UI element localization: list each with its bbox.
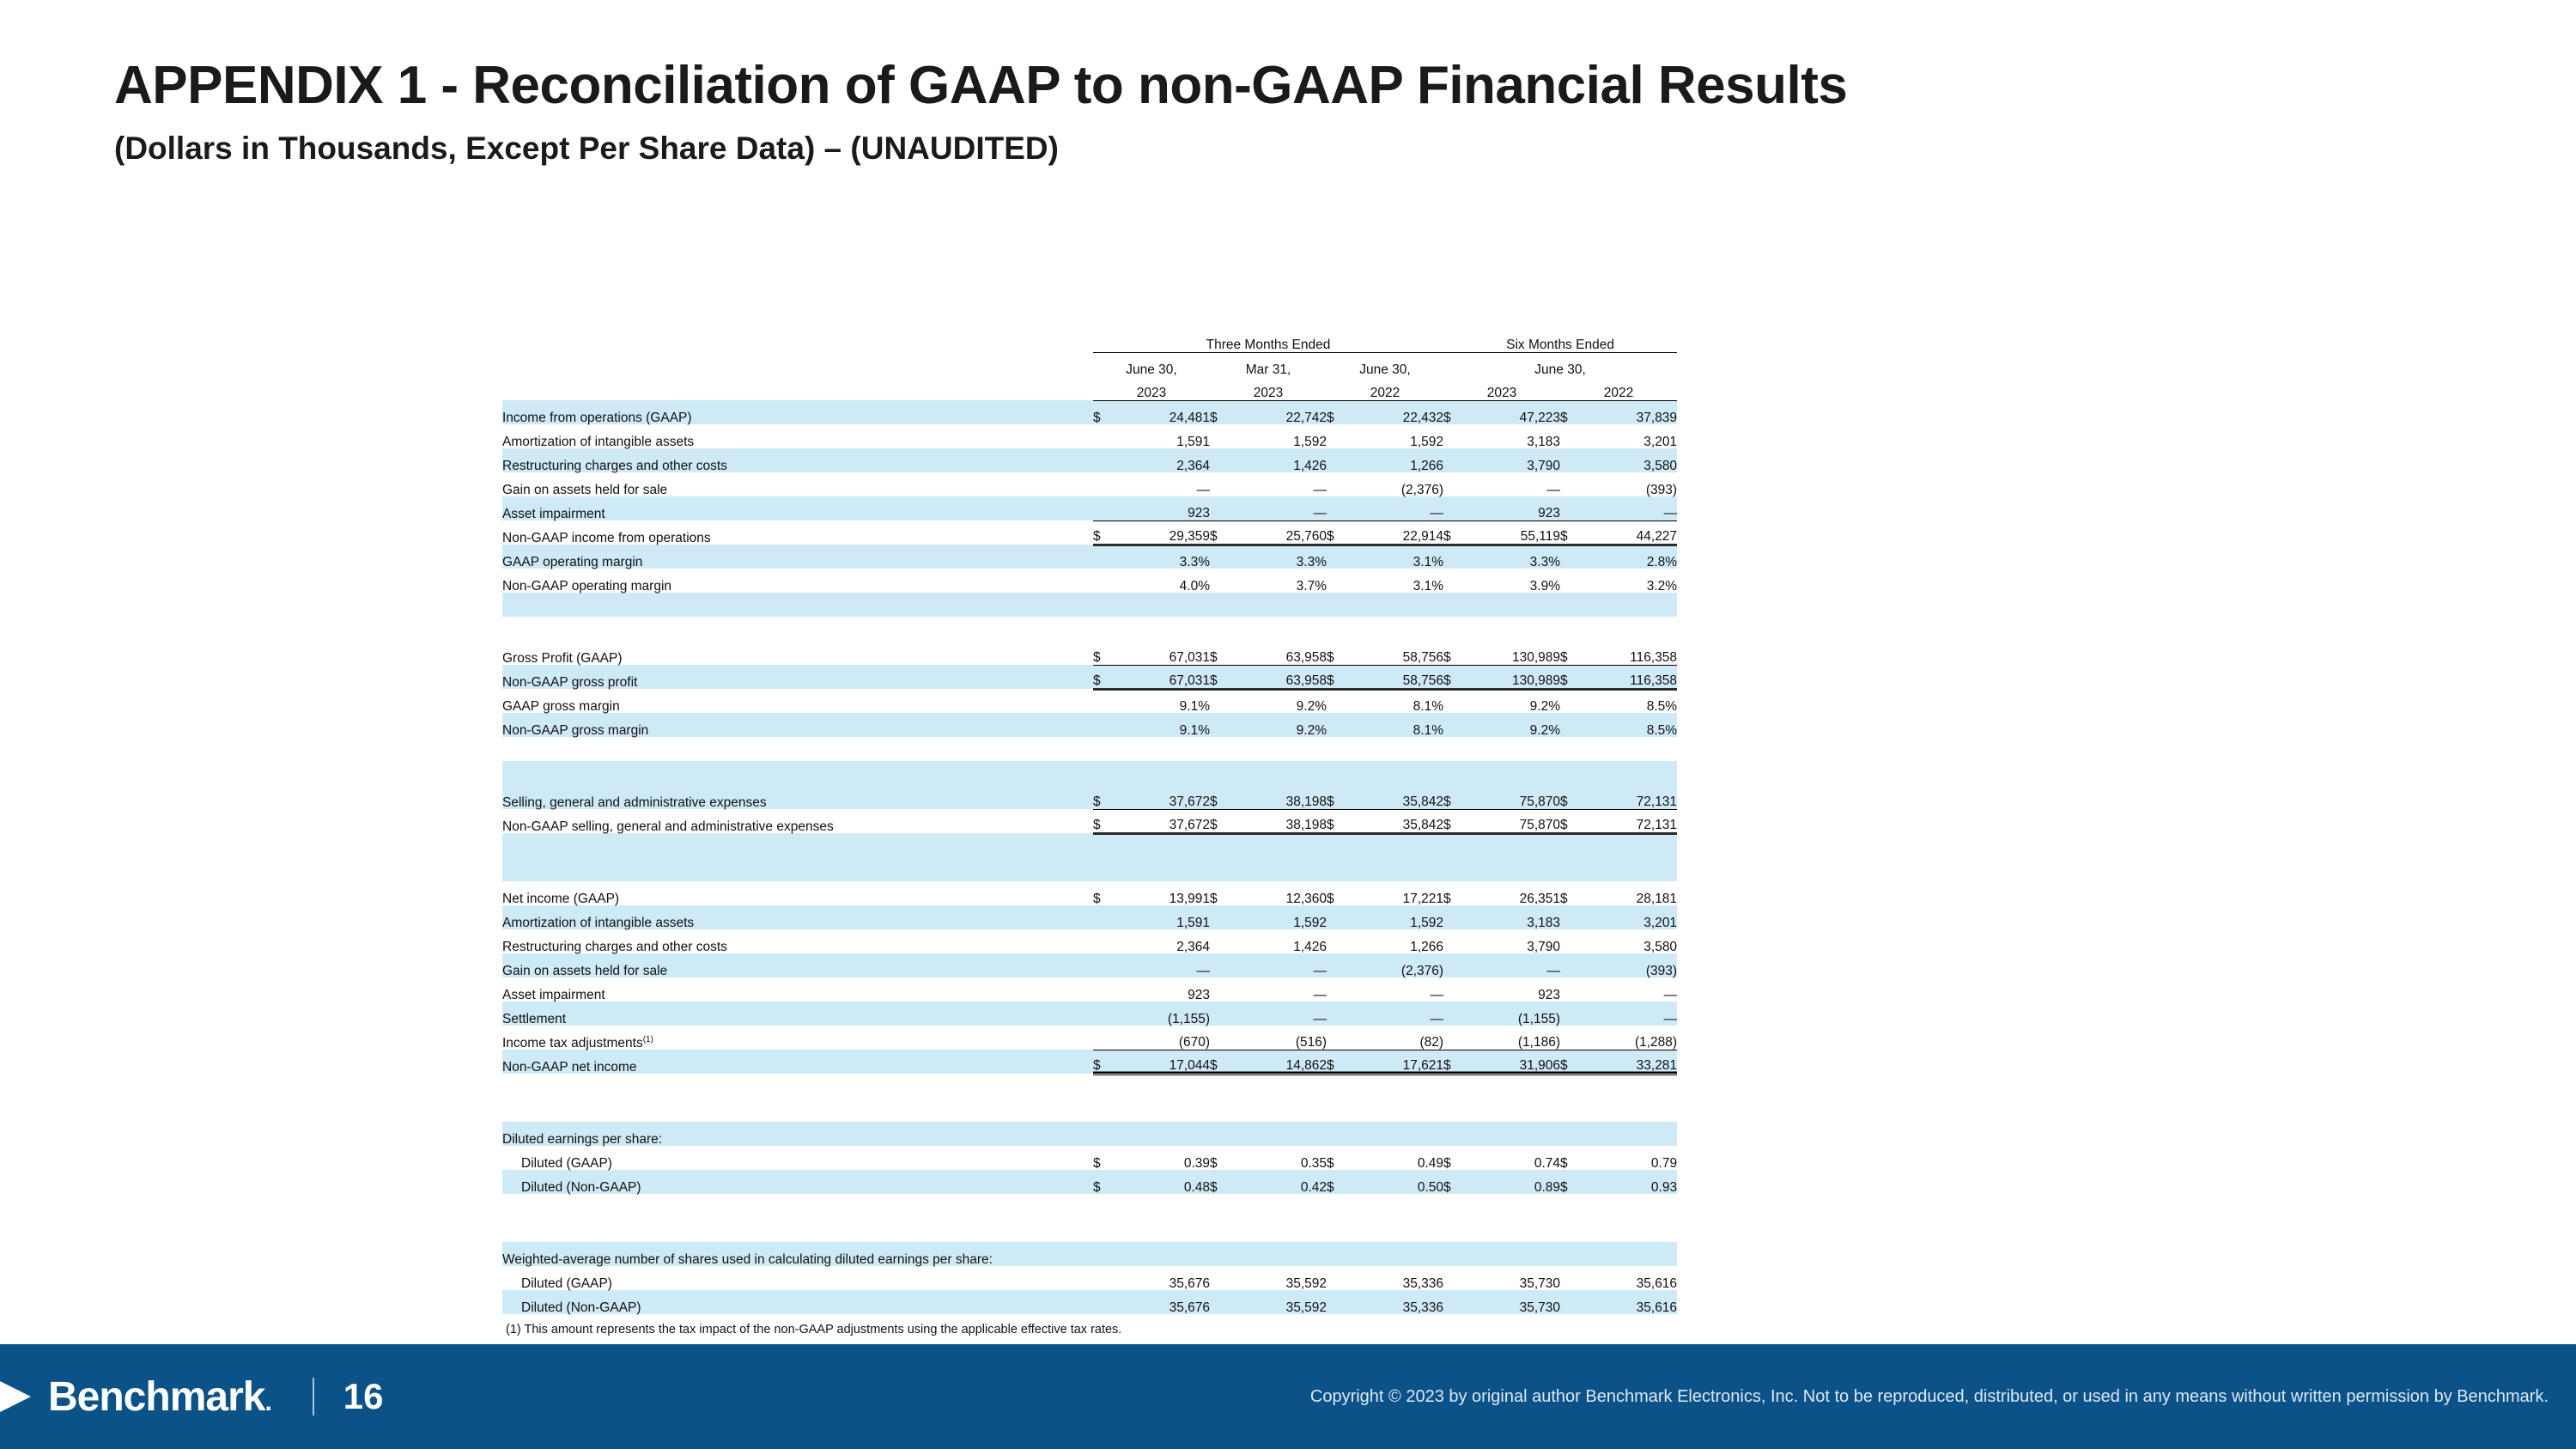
row-label: Non-GAAP income from operations [502,521,1093,545]
currency-symbol-cell [1560,929,1579,953]
currency-symbol-cell [1560,689,1579,713]
table-cell-value: 3,580 [1579,448,1677,472]
table-cell-value [1112,1242,1210,1266]
currency-symbol-cell [1327,1074,1346,1098]
table-cell-value: 22,742 [1229,400,1327,424]
table-cell-value: 1,592 [1229,905,1327,929]
currency-symbol-cell [1560,857,1579,881]
currency-symbol-cell [1560,1026,1579,1050]
currency-symbol-cell: $ [1560,665,1579,689]
table-cell-value: — [1346,1002,1443,1026]
currency-symbol-cell: $ [1210,400,1229,424]
table-spacer-row [502,617,1677,641]
table-cell-value [1112,1074,1210,1098]
table-cell-value [1112,1194,1210,1218]
table-cell-value: — [1579,977,1677,1002]
currency-symbol-cell: $ [1560,1050,1579,1074]
table-cell-value: (1,155) [1112,1002,1210,1026]
table-cell-value: 0.48 [1112,1170,1210,1194]
currency-symbol-cell [1210,569,1229,593]
currency-symbol-cell [1443,1002,1462,1026]
table-cell-value: 35,616 [1579,1266,1677,1290]
table-cell-value: 1,591 [1112,424,1210,448]
currency-symbol-cell [1327,857,1346,881]
group-header-three-months: Three Months Ended [1093,328,1443,352]
currency-symbol-cell: $ [1327,785,1346,809]
table-cell-value: — [1346,977,1443,1002]
table-cell-value: 0.89 [1462,1170,1560,1194]
currency-symbol-cell [1560,1242,1579,1266]
currency-symbol-cell [1443,1218,1462,1242]
currency-symbol-cell [1443,1266,1462,1290]
currency-symbol-cell [1093,1194,1112,1218]
table-cell-value: 9.2% [1229,689,1327,713]
table-cell-value [1462,1074,1560,1098]
currency-symbol-cell [1327,761,1346,785]
table-cell-value [1462,761,1560,785]
table-cell-value [1346,1314,1443,1338]
currency-symbol-cell: $ [1210,785,1229,809]
currency-symbol-cell: $ [1560,1146,1579,1170]
table-cell-value: 35,616 [1579,1290,1677,1314]
table-cell-value [1579,761,1677,785]
row-label: Gain on assets held for sale [502,472,1093,496]
table-row: Selling, general and administrative expe… [502,785,1677,809]
currency-symbol-cell [1210,424,1229,448]
currency-symbol-cell: $ [1443,665,1462,689]
table-cell-value: 12,360 [1229,881,1327,905]
currency-symbol-cell [1560,737,1579,761]
currency-symbol-cell [1560,1122,1579,1146]
year-header-col-1: 2023 [1093,376,1210,400]
currency-symbol-cell [1093,737,1112,761]
row-label: Non-GAAP net income [502,1050,1093,1074]
table-cell-value [1229,833,1327,857]
table-spacer-row [502,1194,1677,1218]
currency-symbol-cell [1327,1002,1346,1026]
currency-symbol-cell [1443,1314,1462,1338]
currency-symbol-cell [1560,472,1579,496]
currency-symbol-cell [1327,1218,1346,1242]
table-cell-value [1229,1122,1327,1146]
table-cell-value: 923 [1462,496,1560,521]
currency-symbol-cell [1560,761,1579,785]
table-cell-value [1462,1122,1560,1146]
currency-symbol-cell [1210,857,1229,881]
table-cell-value: — [1346,496,1443,521]
currency-symbol-cell: $ [1327,809,1346,833]
row-label: Amortization of intangible assets [502,424,1093,448]
currency-symbol-cell [1210,472,1229,496]
currency-symbol-cell [1560,1074,1579,1098]
currency-symbol-cell [1093,905,1112,929]
currency-symbol-cell: $ [1210,809,1229,833]
table-cell-value: 35,336 [1346,1266,1443,1290]
currency-symbol-cell [1443,713,1462,737]
currency-symbol-cell: $ [1560,521,1579,545]
currency-symbol-cell: $ [1093,785,1112,809]
table-cell-value [1229,593,1327,617]
currency-symbol-cell [1443,1242,1462,1266]
table-row: Non-GAAP gross margin9.1%9.2%8.1%9.2%8.5… [502,713,1677,737]
table-cell-value: 3.3% [1229,545,1327,569]
table-row: Asset impairment923——923— [502,496,1677,521]
table-cell-value: 3.3% [1462,545,1560,569]
table-cell-value [1346,1122,1443,1146]
currency-symbol-cell: $ [1443,1050,1462,1074]
row-label: Diluted (Non-GAAP) [502,1290,1093,1314]
row-label [502,1194,1093,1218]
currency-symbol-cell [1443,569,1462,593]
table-cell-value: 33,281 [1579,1050,1677,1074]
brand-name-dot: . [264,1388,270,1416]
table-cell-value: 31,906 [1462,1050,1560,1074]
currency-symbol-cell: $ [1443,1146,1462,1170]
table-row: Gain on assets held for sale——(2,376)—(3… [502,953,1677,977]
table-body: Income from operations (GAAP)$24,481$22,… [502,400,1677,1434]
financial-reconciliation-table: Three Months Ended Six Months Ended June… [502,328,1677,1436]
currency-symbol-cell [1210,593,1229,617]
table-cell-value: — [1462,953,1560,977]
table-cell-value [1579,1218,1677,1242]
table-cell-value: 116,358 [1579,665,1677,689]
row-label: Income from operations (GAAP) [502,400,1093,424]
table-cell-value: 17,221 [1346,881,1443,905]
table-cell-value: 63,958 [1229,665,1327,689]
currency-symbol-cell [1443,617,1462,641]
currency-symbol-cell [1327,496,1346,521]
currency-symbol-cell [1560,593,1579,617]
table-cell-value: 3.7% [1229,569,1327,593]
fin-table: Three Months Ended Six Months Ended June… [502,328,1677,1436]
row-label: GAAP gross margin [502,689,1093,713]
row-label: Net income (GAAP) [502,881,1093,905]
table-cell-value: — [1112,953,1210,977]
table-spacer-row [502,833,1677,857]
table-cell-value: 2.8% [1579,545,1677,569]
table-row: Gross Profit (GAAP)$67,031$63,958$58,756… [502,641,1677,665]
currency-symbol-cell: $ [1443,881,1462,905]
currency-symbol-cell: $ [1093,641,1112,665]
currency-symbol-cell [1327,424,1346,448]
table-cell-value: 67,031 [1112,641,1210,665]
month-header-col-2: Mar 31, [1210,352,1327,376]
table-cell-value: 116,358 [1579,641,1677,665]
currency-symbol-cell [1210,689,1229,713]
currency-symbol-cell [1210,1122,1229,1146]
row-label: Asset impairment [502,496,1093,521]
currency-symbol-cell [1327,569,1346,593]
table-cell-value: 17,621 [1346,1050,1443,1074]
table-row: GAAP gross margin9.1%9.2%8.1%9.2%8.5% [502,689,1677,713]
group-header-six-months: Six Months Ended [1443,328,1677,352]
currency-symbol-cell: $ [1093,400,1112,424]
currency-symbol-cell [1093,1290,1112,1314]
currency-symbol-cell [1443,833,1462,857]
table-row: Non-GAAP operating margin4.0%3.7%3.1%3.9… [502,569,1677,593]
table-cell-value: 0.93 [1579,1170,1677,1194]
currency-symbol-cell [1210,1074,1229,1098]
row-label: Diluted earnings per share: [502,1122,1093,1146]
currency-symbol-cell [1093,1002,1112,1026]
table-cell-value: 8.5% [1579,713,1677,737]
table-cell-value [1112,833,1210,857]
table-cell-value: — [1579,496,1677,521]
currency-symbol-cell [1443,1290,1462,1314]
table-cell-value: 3.1% [1346,569,1443,593]
currency-symbol-cell [1093,1026,1112,1050]
table-cell-value: 58,756 [1346,641,1443,665]
currency-symbol-cell [1327,953,1346,977]
currency-symbol-cell [1093,1218,1112,1242]
currency-symbol-cell [1093,857,1112,881]
table-cell-value: 0.74 [1462,1146,1560,1170]
currency-symbol-cell: $ [1327,400,1346,424]
currency-symbol-cell [1560,448,1579,472]
table-cell-value [1112,1218,1210,1242]
table-cell-value: 75,870 [1462,785,1560,809]
month-header-blank [502,352,1093,376]
row-label: Diluted (GAAP) [502,1146,1093,1170]
currency-symbol-cell [1093,1242,1112,1266]
table-cell-value [1112,761,1210,785]
currency-symbol-cell [1443,761,1462,785]
table-cell-value [1579,617,1677,641]
table-cell-value [1462,857,1560,881]
table-cell-value: 13,991 [1112,881,1210,905]
table-cell-value [1579,833,1677,857]
table-row: Income from operations (GAAP)$24,481$22,… [502,400,1677,424]
table-cell-value: 35,730 [1462,1290,1560,1314]
currency-symbol-cell [1093,929,1112,953]
table-cell-value: 0.50 [1346,1170,1443,1194]
table-cell-value: 14,862 [1229,1050,1327,1074]
currency-symbol-cell [1560,1218,1579,1242]
table-cell-value: 24,481 [1112,400,1210,424]
arrow-right-icon [0,1373,41,1420]
currency-symbol-cell: $ [1443,809,1462,833]
table-cell-value: 1,591 [1112,905,1210,929]
table-cell-value: (670) [1112,1026,1210,1050]
currency-symbol-cell: $ [1210,1170,1229,1194]
table-cell-value: 0.49 [1346,1146,1443,1170]
table-cell-value: 28,181 [1579,881,1677,905]
table-cell-value [1462,1242,1560,1266]
table-cell-value: 2,364 [1112,929,1210,953]
table-cell-value: 35,842 [1346,785,1443,809]
currency-symbol-cell [1560,713,1579,737]
row-label: Non-GAAP operating margin [502,569,1093,593]
currency-symbol-cell [1443,545,1462,569]
currency-symbol-cell: $ [1560,400,1579,424]
table-cell-value [1462,1314,1560,1338]
table-head: Three Months Ended Six Months Ended June… [502,328,1677,400]
currency-symbol-cell [1093,1266,1112,1290]
currency-symbol-cell [1093,713,1112,737]
table-cell-value [1462,1098,1560,1122]
currency-symbol-cell: $ [1210,881,1229,905]
currency-symbol-cell [1210,953,1229,977]
currency-symbol-cell [1560,496,1579,521]
table-spacer-row [502,1074,1677,1098]
brand-name: Benchmark. [48,1373,271,1421]
table-cell-value: 3,201 [1579,424,1677,448]
table-cell-value: 3,790 [1462,929,1560,953]
currency-symbol-cell [1093,761,1112,785]
table-cell-value [1229,761,1327,785]
currency-symbol-cell: $ [1210,665,1229,689]
table-cell-value [1112,857,1210,881]
month-header-col-3: June 30, [1327,352,1443,376]
currency-symbol-cell: $ [1443,521,1462,545]
table-cell-value [1579,1074,1677,1098]
title-block: APPENDIX 1 - Reconciliation of GAAP to n… [114,58,2347,167]
table-cell-value: 130,989 [1462,641,1560,665]
table-cell-value: 22,914 [1346,521,1443,545]
currency-symbol-cell [1327,448,1346,472]
currency-symbol-cell [1560,569,1579,593]
table-row: Income tax adjustments(1)(670)(516)(82)(… [502,1026,1677,1050]
currency-symbol-cell: $ [1443,1170,1462,1194]
table-cell-value: 35,676 [1112,1290,1210,1314]
table-cell-value: 35,730 [1462,1266,1560,1290]
currency-symbol-cell [1093,1074,1112,1098]
currency-symbol-cell [1443,1026,1462,1050]
currency-symbol-cell [1210,761,1229,785]
table-cell-value: (516) [1229,1026,1327,1050]
table-cell-value: (393) [1579,953,1677,977]
table-cell-value: 3.1% [1346,545,1443,569]
row-label: Gross Profit (GAAP) [502,641,1093,665]
currency-symbol-cell: $ [1093,665,1112,689]
currency-symbol-cell [1443,953,1462,977]
table-cell-value: 1,592 [1229,424,1327,448]
row-label [502,1074,1093,1098]
currency-symbol-cell [1560,1290,1579,1314]
currency-symbol-cell [1210,1098,1229,1122]
table-cell-value [1346,1218,1443,1242]
row-label [502,1098,1093,1122]
currency-symbol-cell: $ [1327,641,1346,665]
row-label [502,737,1093,761]
row-label: Settlement [502,1002,1093,1026]
year-header-col-2: 2023 [1210,376,1327,400]
table-cell-value: (82) [1346,1026,1443,1050]
currency-symbol-cell [1327,617,1346,641]
table-row: Gain on assets held for sale——(2,376)—(3… [502,472,1677,496]
table-cell-value: 9.2% [1462,689,1560,713]
currency-symbol-cell: $ [1093,1146,1112,1170]
currency-symbol-cell [1327,1290,1346,1314]
table-cell-value: 1,592 [1346,905,1443,929]
row-label: Restructuring charges and other costs [502,448,1093,472]
table-cell-value [1229,737,1327,761]
table-cell-value: 0.35 [1229,1146,1327,1170]
table-cell-value: 9.1% [1112,689,1210,713]
table-cell-value [1462,833,1560,857]
table-row: Amortization of intangible assets1,5911,… [502,905,1677,929]
brand-logo: Benchmark. 16 [0,1370,384,1423]
table-cell-value [1112,617,1210,641]
row-label: Amortization of intangible assets [502,905,1093,929]
currency-symbol-cell [1093,977,1112,1002]
currency-symbol-cell [1327,593,1346,617]
currency-symbol-cell [1210,1290,1229,1314]
currency-symbol-cell [1327,472,1346,496]
currency-symbol-cell [1093,617,1112,641]
table-cell-value: — [1229,496,1327,521]
table-cell-value: 35,336 [1346,1290,1443,1314]
table-cell-value: (2,376) [1346,953,1443,977]
brand-name-text: Benchmark [48,1374,264,1420]
currency-symbol-cell [1443,689,1462,713]
table-cell-value [1579,1314,1677,1338]
row-label: Diluted (GAAP) [502,1266,1093,1290]
year-header-col-4: 2023 [1443,376,1560,400]
currency-symbol-cell [1443,496,1462,521]
table-cell-value [1579,857,1677,881]
table-cell-value: 3.2% [1579,569,1677,593]
table-spacer-row [502,593,1677,617]
currency-symbol-cell [1443,424,1462,448]
table-cell-value: 130,989 [1462,665,1560,689]
table-cell-value: 1,426 [1229,448,1327,472]
table-cell-value: 3.3% [1112,545,1210,569]
table-row: Diluted (Non-GAAP)35,67635,59235,33635,7… [502,1290,1677,1314]
table-cell-value [1462,737,1560,761]
table-cell-value: — [1229,472,1327,496]
table-cell-value: — [1229,977,1327,1002]
table-row: Asset impairment923——923— [502,977,1677,1002]
month-header-col-4: June 30, [1443,352,1677,376]
table-cell-value [1229,1074,1327,1098]
table-cell-value [1229,857,1327,881]
table-row: Weighted-average number of shares used i… [502,1242,1677,1266]
currency-symbol-cell [1327,905,1346,929]
currency-symbol-cell [1093,472,1112,496]
table-cell-value: 3.9% [1462,569,1560,593]
currency-symbol-cell [1443,1194,1462,1218]
table-row: Diluted (GAAP)$0.39$0.35$0.49$0.74$0.79 [502,1146,1677,1170]
table-cell-value [1112,1314,1210,1338]
table-cell-value: — [1229,953,1327,977]
table-cell-value: 0.42 [1229,1170,1327,1194]
currency-symbol-cell [1210,1218,1229,1242]
currency-symbol-cell [1093,545,1112,569]
currency-symbol-cell [1443,1122,1462,1146]
currency-symbol-cell [1327,977,1346,1002]
table-cell-value [1229,1242,1327,1266]
currency-symbol-cell [1327,833,1346,857]
table-cell-value: — [1112,472,1210,496]
currency-symbol-cell [1560,1098,1579,1122]
currency-symbol-cell [1093,569,1112,593]
currency-symbol-cell: $ [1327,665,1346,689]
year-header-col-3: 2022 [1327,376,1443,400]
currency-symbol-cell: $ [1327,1146,1346,1170]
currency-symbol-cell: $ [1093,881,1112,905]
table-row: Non-GAAP selling, general and administra… [502,809,1677,833]
table-cell-value [1229,1194,1327,1218]
currency-symbol-cell [1327,1266,1346,1290]
currency-symbol-cell [1560,1194,1579,1218]
currency-symbol-cell [1443,472,1462,496]
table-cell-value [1579,1242,1677,1266]
table-cell-value: 9.2% [1229,713,1327,737]
page-title: APPENDIX 1 - Reconciliation of GAAP to n… [114,58,2347,113]
currency-symbol-cell [1210,496,1229,521]
currency-symbol-cell [1210,977,1229,1002]
